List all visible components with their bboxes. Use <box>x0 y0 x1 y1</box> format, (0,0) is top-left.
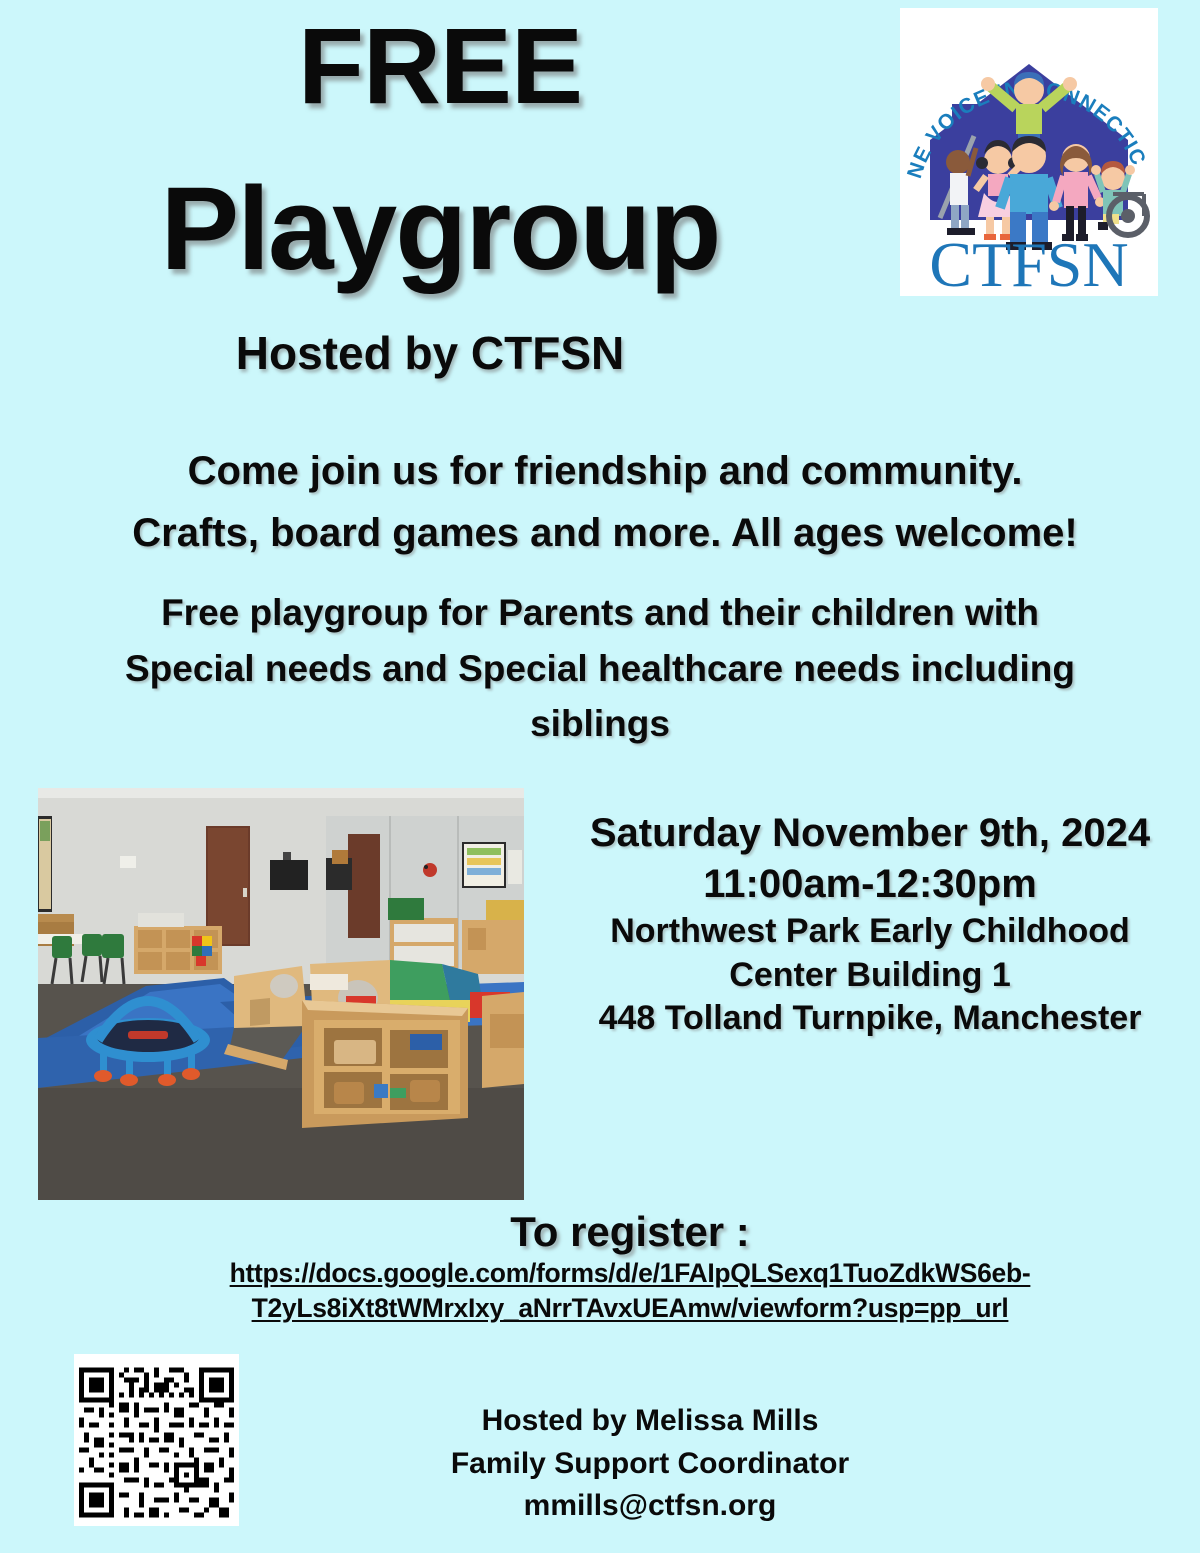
description-line-3: siblings <box>70 696 1130 752</box>
headline-hosted-by: Hosted by CTFSN <box>0 328 860 379</box>
headline-free: FREE <box>0 12 880 120</box>
logo-graphic: ONE VOICE IN CONNECTICUT <box>900 8 1158 296</box>
register-heading: To register : <box>300 1208 960 1256</box>
event-time: 11:00am-12:30pm <box>556 859 1184 910</box>
contact-email[interactable]: mmills@ctfsn.org <box>390 1485 910 1528</box>
headline-playgroup: Playgroup <box>0 170 880 288</box>
registration-link[interactable]: https://docs.google.com/forms/d/e/1FAIpQ… <box>150 1256 1110 1326</box>
intro-line-2: Crafts, board games and more. All ages w… <box>60 502 1150 564</box>
qr-code[interactable] <box>74 1354 239 1526</box>
logo-wordmark: CTFSN <box>929 229 1128 296</box>
classroom-photo <box>38 788 524 1200</box>
contact-role: Family Support Coordinator <box>390 1443 910 1486</box>
ctfsn-logo: ONE VOICE IN CONNECTICUT <box>900 8 1158 296</box>
classroom-photo-graphic <box>38 788 524 1200</box>
registration-url-line-2[interactable]: T2yLs8iXt8tWMrxIxy_aNrrTAvxUEAmw/viewfor… <box>150 1291 1110 1326</box>
intro-line-1: Come join us for friendship and communit… <box>60 440 1150 502</box>
description-line-2: Special needs and Special healthcare nee… <box>70 641 1130 697</box>
event-address: 448 Tolland Turnpike, Manchester <box>556 997 1184 1041</box>
flyer-page: ONE VOICE IN CONNECTICUT <box>0 0 1200 1553</box>
registration-url-line-1[interactable]: https://docs.google.com/forms/d/e/1FAIpQ… <box>150 1256 1110 1291</box>
event-venue-line-1: Northwest Park Early Childhood <box>556 910 1184 954</box>
event-details: Saturday November 9th, 2024 11:00am-12:3… <box>556 808 1184 1041</box>
event-date: Saturday November 9th, 2024 <box>556 808 1184 859</box>
qr-code-graphic[interactable] <box>74 1354 239 1526</box>
intro-text: Come join us for friendship and communit… <box>60 440 1150 564</box>
contact-block: Hosted by Melissa Mills Family Support C… <box>390 1400 910 1528</box>
event-venue-line-2: Center Building 1 <box>556 954 1184 998</box>
contact-host-name: Hosted by Melissa Mills <box>390 1400 910 1443</box>
description-line-1: Free playgroup for Parents and their chi… <box>70 585 1130 641</box>
description-text: Free playgroup for Parents and their chi… <box>70 585 1130 752</box>
